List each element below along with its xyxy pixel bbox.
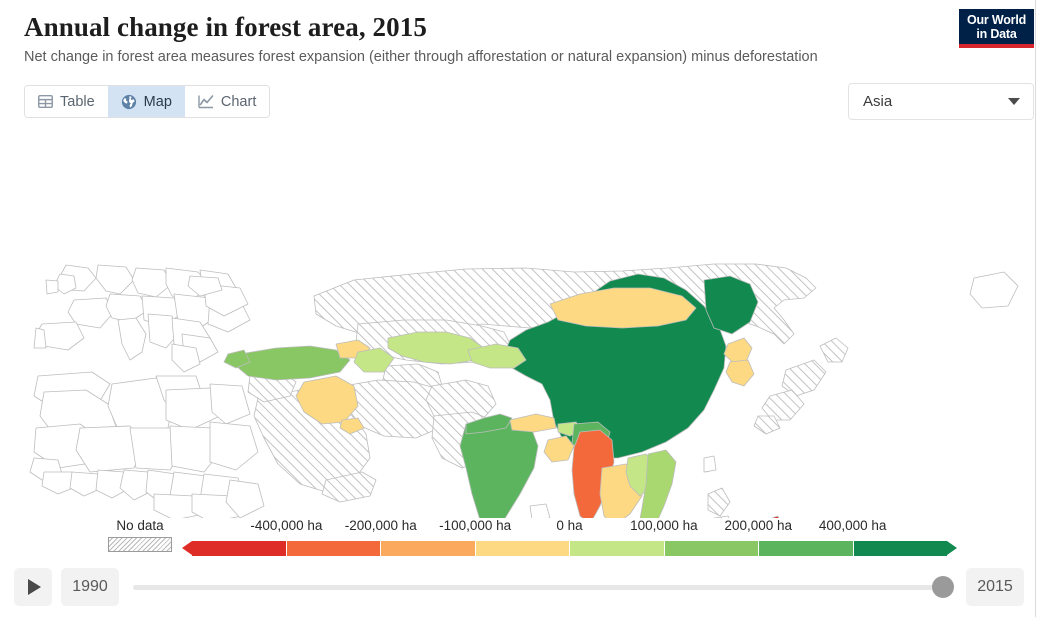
legend-cap-left-arrow — [182, 541, 192, 555]
legend-scale[interactable]: -400,000 ha-200,000 ha-100,000 ha0 ha100… — [192, 518, 947, 556]
map-svg[interactable] — [14, 128, 1032, 518]
world-map[interactable] — [14, 128, 1032, 518]
legend-segment[interactable] — [476, 541, 571, 556]
legend-tick-label: 200,000 ha — [724, 518, 792, 533]
legend-segment[interactable] — [192, 541, 287, 556]
timeline-slider-track[interactable] — [133, 585, 943, 590]
legend-no-data-label: No data — [108, 518, 172, 534]
legend-tick-label: 400,000 ha — [819, 518, 887, 533]
legend-tick-label: -400,000 ha — [250, 518, 322, 533]
tab-table-label: Table — [60, 94, 95, 110]
timeline-slider[interactable] — [133, 568, 943, 606]
legend-segment[interactable] — [287, 541, 382, 556]
legend-tick-label: 0 ha — [556, 518, 582, 533]
page-title: Annual change in forest area, 2015 — [24, 10, 1014, 44]
legend-segment[interactable] — [665, 541, 760, 556]
legend-color-bar[interactable] — [192, 541, 947, 556]
legend-segment[interactable] — [381, 541, 476, 556]
table-icon — [38, 94, 53, 109]
tab-chart-label: Chart — [221, 94, 256, 110]
tab-map-label: Map — [144, 94, 172, 110]
line-chart-icon — [198, 94, 214, 109]
legend-cap-right-arrow — [947, 541, 957, 555]
legend-tick-label: 100,000 ha — [630, 518, 698, 533]
play-button[interactable] — [14, 568, 52, 606]
legend-segment[interactable] — [759, 541, 854, 556]
page-subtitle: Net change in forest area measures fores… — [24, 48, 1014, 67]
chart-header: Annual change in forest area, 2015 Net c… — [24, 10, 1014, 67]
owid-grapher-map-view: Annual change in forest area, 2015 Net c… — [0, 0, 1056, 617]
legend-no-data[interactable]: No data — [108, 518, 172, 552]
legend-tick-label: -200,000 ha — [345, 518, 417, 533]
view-tabs: Table Map Chart — [24, 85, 270, 118]
legend-segment[interactable] — [570, 541, 665, 556]
legend-no-data-swatch — [108, 537, 172, 552]
play-icon — [28, 579, 41, 595]
timeline-control[interactable]: 1990 2015 — [14, 566, 1024, 608]
legend-tick-labels: -400,000 ha-200,000 ha-100,000 ha0 ha100… — [192, 518, 947, 537]
panel-right-border — [1035, 0, 1036, 617]
chevron-down-icon — [1008, 98, 1020, 105]
region-select-value: Asia — [863, 93, 892, 110]
timeline-end-year[interactable]: 2015 — [966, 568, 1024, 606]
timeline-start-year[interactable]: 1990 — [61, 568, 119, 606]
timeline-slider-handle[interactable] — [932, 576, 954, 598]
tab-chart[interactable]: Chart — [185, 86, 269, 117]
region-select[interactable]: Asia — [848, 83, 1034, 120]
logo-line-1: Our World — [965, 13, 1028, 27]
our-world-in-data-logo[interactable]: Our World in Data — [959, 9, 1034, 48]
legend-segment[interactable] — [854, 541, 948, 556]
map-legend: No data -400,000 ha-200,000 ha-100,000 h… — [0, 518, 1035, 562]
globe-icon — [121, 94, 137, 110]
logo-line-2: in Data — [965, 27, 1028, 41]
tab-map[interactable]: Map — [108, 86, 185, 117]
legend-tick-label: -100,000 ha — [439, 518, 511, 533]
tab-table[interactable]: Table — [25, 86, 108, 117]
